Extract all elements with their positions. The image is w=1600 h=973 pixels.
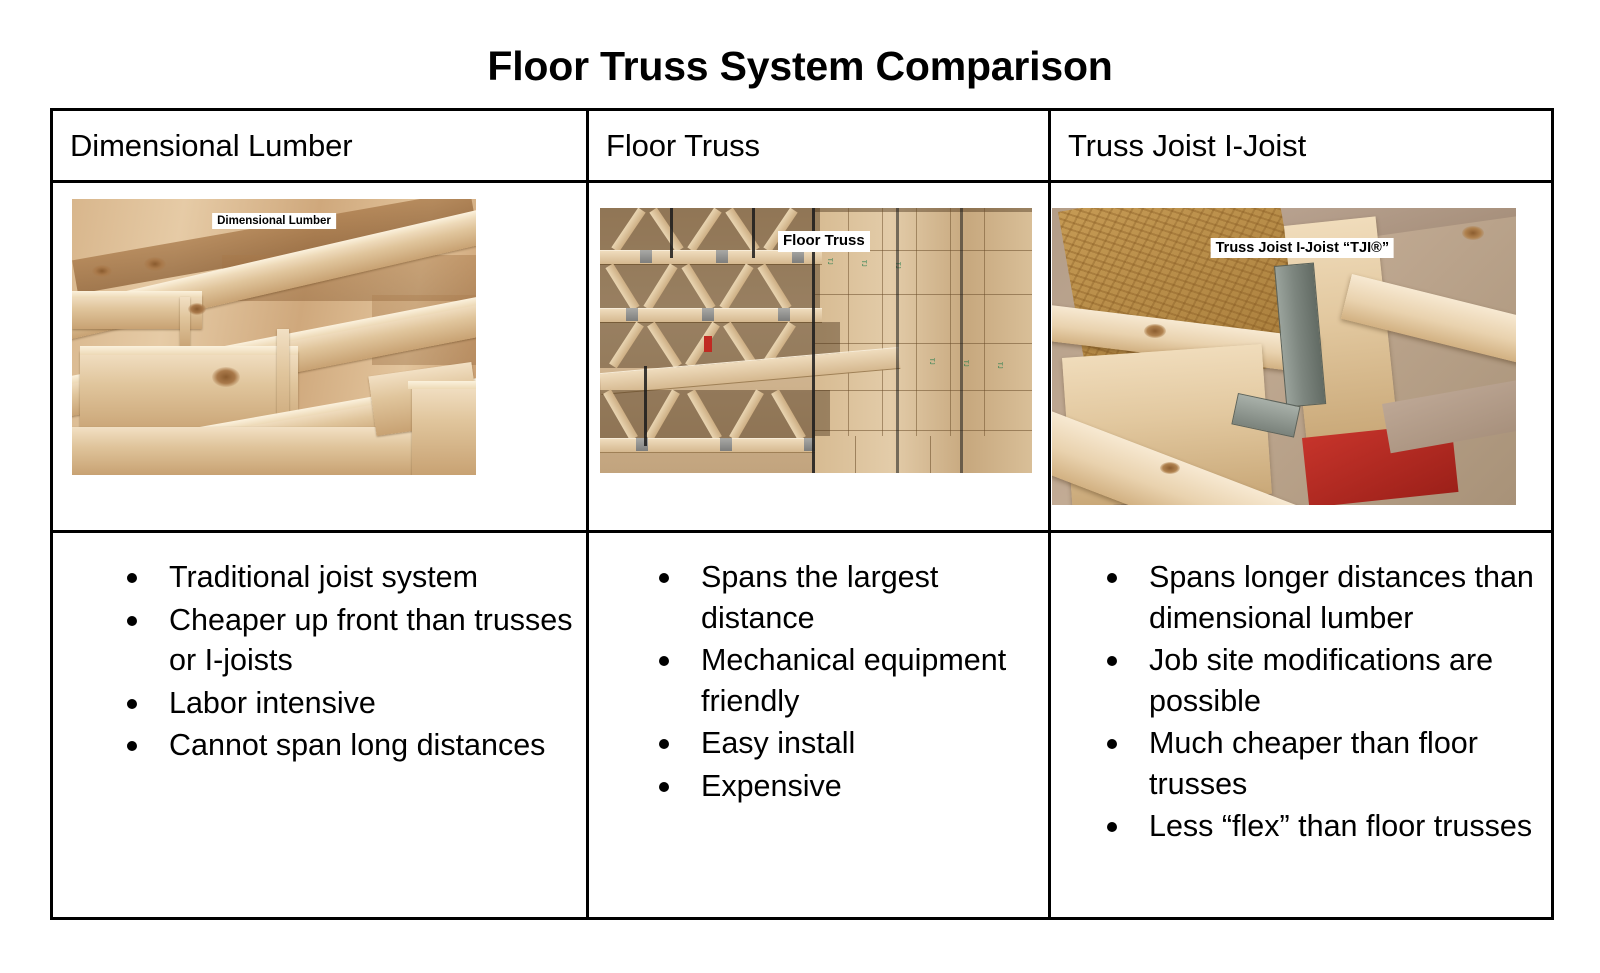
truss-tag-red [704, 336, 712, 352]
list-item: Job site modifications are possible [1107, 640, 1541, 721]
wood-knot [212, 367, 240, 387]
photo-truss-joist-i-joist: Truss Joist I-Joist “TJI®” [1052, 208, 1516, 505]
truss-plate [792, 250, 804, 263]
image-cell-truss-joist-i-joist: Truss Joist I-Joist “TJI®” [1051, 183, 1551, 530]
photo-caption-dimensional-lumber: Dimensional Lumber [212, 213, 336, 229]
list-item: Mechanical equipment friendly [659, 640, 1038, 721]
page-title: Floor Truss System Comparison [0, 0, 1600, 89]
truss-plate [640, 250, 652, 263]
table-header-row: Dimensional Lumber Floor Truss Truss Joi… [53, 111, 1551, 183]
list-item: Easy install [659, 723, 1038, 764]
wood-knot [92, 265, 112, 277]
joist-top-edge [80, 346, 298, 355]
stack-seam [950, 208, 951, 473]
bullet-list-floor-truss: Spans the largest distance Mechanical eq… [601, 557, 1038, 806]
truss-plate [716, 250, 728, 263]
stack-seam [882, 208, 883, 473]
wood-knot [144, 257, 166, 271]
truss-strap [644, 366, 647, 446]
joist-face [412, 385, 476, 475]
stack-seam [916, 208, 917, 473]
truss-bottom-chord [600, 250, 822, 265]
list-item: Traditional joist system [127, 557, 576, 598]
truss-stamp: TJ [928, 358, 934, 365]
list-item: Spans the largest distance [659, 557, 1038, 638]
stack-seam [855, 436, 856, 473]
list-item: Spans longer distances than dimensional … [1107, 557, 1541, 638]
list-item: Labor intensive [127, 683, 576, 724]
truss-stamp: TJ [860, 260, 866, 267]
bullets-cell-floor-truss: Spans the largest distance Mechanical eq… [589, 533, 1051, 917]
truss-strap [670, 208, 673, 258]
photo-caption-floor-truss: Floor Truss [778, 231, 870, 252]
truss-plate [720, 438, 732, 451]
truss-strap [752, 208, 755, 258]
comparison-table: Dimensional Lumber Floor Truss Truss Joi… [50, 108, 1554, 920]
photo-caption-truss-joist-i-joist: Truss Joist I-Joist “TJI®” [1211, 238, 1394, 258]
truss-strap [960, 208, 963, 473]
list-item: Expensive [659, 766, 1038, 807]
wood-knot [1462, 226, 1484, 240]
truss-plate [626, 308, 638, 321]
table-image-row: Dimensional Lumber TJ TJ [53, 183, 1551, 533]
photo-dimensional-lumber: Dimensional Lumber [72, 199, 476, 475]
bullets-cell-truss-joist-i-joist: Spans longer distances than dimensional … [1051, 533, 1551, 917]
column-header-floor-truss: Floor Truss [589, 111, 1051, 180]
image-cell-floor-truss: TJ TJ TJ TJ TJ TJ [589, 183, 1051, 530]
table-bullets-row: Traditional joist system Cheaper up fron… [53, 533, 1551, 917]
stack-seam [930, 436, 931, 473]
truss-stamp: TJ [996, 362, 1002, 369]
wood-knot [1160, 462, 1180, 474]
bullet-list-truss-joist-i-joist: Spans longer distances than dimensional … [1063, 557, 1541, 847]
wood-knot [1144, 324, 1166, 338]
joist-face [72, 427, 412, 475]
truss-stamp: TJ [826, 258, 832, 265]
truss-bundle-stack [815, 436, 1032, 473]
bullet-list-dimensional-lumber: Traditional joist system Cheaper up fron… [65, 557, 576, 766]
truss-plate [702, 308, 714, 321]
list-item: Less “flex” than floor trusses [1107, 806, 1541, 847]
photo-floor-truss: TJ TJ TJ TJ TJ TJ [600, 208, 1032, 473]
bullets-cell-dimensional-lumber: Traditional joist system Cheaper up fron… [53, 533, 589, 917]
truss-plate [778, 308, 790, 321]
column-header-dimensional-lumber: Dimensional Lumber [53, 111, 589, 180]
image-cell-dimensional-lumber: Dimensional Lumber [53, 183, 589, 530]
joist-top-edge [408, 381, 476, 389]
list-item: Cannot span long distances [127, 725, 576, 766]
list-item: Much cheaper than floor trusses [1107, 723, 1541, 804]
list-item: Cheaper up front than trusses or I-joist… [127, 600, 576, 681]
truss-strap [896, 208, 899, 473]
stack-seam [984, 208, 985, 473]
column-header-truss-joist-i-joist: Truss Joist I-Joist [1051, 111, 1551, 180]
wood-knot [188, 303, 206, 315]
